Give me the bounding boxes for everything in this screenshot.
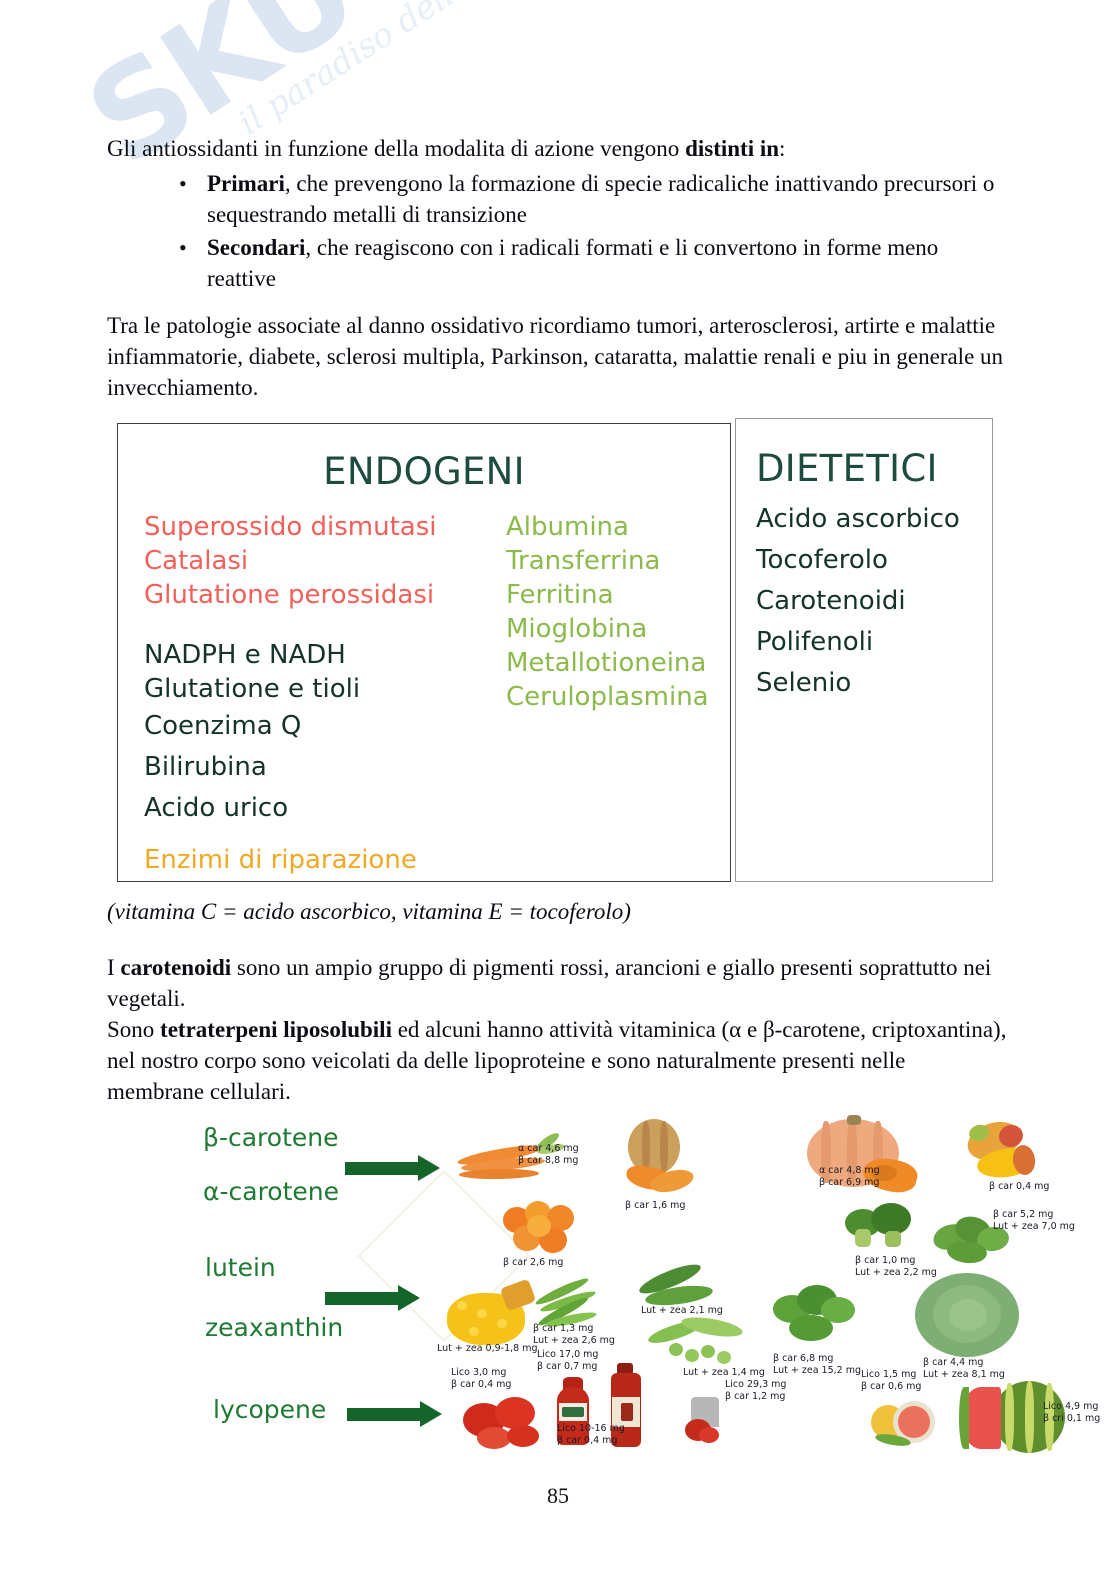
endogeni-subgroup: Coenzima Q Bilirubina Acido urico <box>144 706 436 829</box>
endogeni-column-one: Superossido dismutasi Catalasi Glutation… <box>144 510 436 877</box>
food-label-tomato-sauce: Lico 10-16 mg β car 0,4 mg <box>557 1423 625 1447</box>
endogeni-column-two: Albumina Transferrina Ferritina Mioglobi… <box>506 510 709 714</box>
endogeni-item: Coenzima Q <box>144 706 436 747</box>
endogeni-item: Glutatione e tioli <box>144 672 436 706</box>
figure-label-lycopene: lycopene <box>213 1395 326 1424</box>
food-label-tomatoes: Lico 3,0 mg β car 0,4 mg <box>451 1367 511 1391</box>
bullet-icon: • <box>179 232 187 263</box>
food-label-apricots: β car 2,6 mg <box>503 1257 563 1269</box>
dietetici-title: DIETETICI <box>756 447 938 490</box>
dietetici-item: Selenio <box>756 663 960 704</box>
food-label-broccoli: β car 1,0 mg Lut + zea 2,2 mg <box>855 1255 937 1279</box>
food-label-cantaloupe: β car 1,6 mg <box>625 1200 685 1212</box>
food-label-spinach: β car 5,2 mg Lut + zea 7,0 mg <box>993 1209 1075 1233</box>
endogenous-antioxidants-box: ENDOGENI Superossido dismutasi Catalasi … <box>117 423 731 882</box>
caro-p2-bold: tetraterpeni liposolubili <box>160 1017 392 1042</box>
endogeni-item: Ceruloplasmina <box>506 680 709 714</box>
dietetici-item: Tocoferolo <box>756 540 960 581</box>
food-label-green-beans: β car 1,3 mg Lut + zea 2,6 mg <box>533 1323 615 1347</box>
endogeni-item: Superossido dismutasi <box>144 510 436 544</box>
endogeni-item: Metallotioneina <box>506 646 709 680</box>
carotenoids-paragraph: I carotenoidi sono un ampio gruppo di pi… <box>107 952 1007 1107</box>
food-label-peas: Lut + zea 1,4 mg <box>683 1367 765 1379</box>
caro-p1-bold: carotenoidi <box>120 955 231 980</box>
endogeni-item: Acido urico <box>144 788 436 829</box>
list-item-bold: Secondari <box>207 235 305 260</box>
food-label-tomato-paste: Lico 29,3 mg β car 1,2 mg <box>725 1379 786 1403</box>
food-label-mango: β car 0,4 mg <box>989 1181 1049 1193</box>
endogeni-item: Ferritina <box>506 578 709 612</box>
caro-p1-rest: sono un ampio gruppo di pigmenti rossi, … <box>107 955 991 1011</box>
endogeni-item: Albumina <box>506 510 709 544</box>
arrow-xanthophyll-icon <box>325 1285 420 1311</box>
endogeni-item: Catalasi <box>144 544 436 578</box>
antioxidant-type-list: • Primari, che prevengono la formazione … <box>107 168 997 296</box>
food-label-watermelon: Lico 4,9 mg β cri 0,1 mg <box>1043 1401 1100 1425</box>
page-number: 85 <box>0 1483 1116 1509</box>
list-item-bold: Primari <box>207 171 285 196</box>
list-item-text: , che prevengono la formazione di specie… <box>207 171 994 227</box>
endogeni-title: ENDOGENI <box>118 450 730 493</box>
list-item-text: , che reagiscono con i radicali formati … <box>207 235 938 291</box>
food-label-zucchini: Lut + zea 2,1 mg <box>641 1305 723 1317</box>
caro-p2-lead: Sono <box>107 1017 160 1042</box>
food-label-grapefruit: Lico 1,5 mg β car 0,6 mg <box>861 1369 921 1393</box>
list-item: • Primari, che prevengono la formazione … <box>107 168 997 230</box>
arrow-carotene-icon <box>345 1155 440 1181</box>
food-label-cabbage: β car 4,4 mg Lut + zea 8,1 mg <box>923 1357 1005 1381</box>
intro-paragraph: Gli antiossidanti in funzione della moda… <box>107 133 987 164</box>
endogeni-item: Mioglobina <box>506 612 709 646</box>
endogeni-item: Transferrina <box>506 544 709 578</box>
document-page: Gli antiossidanti in funzione della moda… <box>0 0 1116 1579</box>
figure-label-zeaxanthin: zeaxanthin <box>205 1313 343 1342</box>
intro-text: Gli antiossidanti in funzione della moda… <box>107 136 685 161</box>
pathologies-paragraph: Tra le patologie associate al danno ossi… <box>107 310 1007 403</box>
endogeni-item: NADPH e NADH <box>144 638 436 672</box>
dietetici-item: Carotenoidi <box>756 581 960 622</box>
intro-bold: distinti in <box>685 136 779 161</box>
endogeni-item: Glutatione perossidasi <box>144 578 436 612</box>
carotenoid-sources-figure: β-carotene α-carotene lutein zeaxanthin … <box>185 1105 975 1445</box>
dietetici-item: Acido ascorbico <box>756 499 960 540</box>
figure-label-lutein: lutein <box>205 1253 276 1282</box>
dietetici-item: Polifenoli <box>756 622 960 663</box>
figure-label-beta-carotene: β-carotene <box>203 1123 338 1152</box>
bullet-icon: • <box>179 168 187 199</box>
food-label-kale: β car 6,8 mg Lut + zea 15,2 mg <box>773 1353 861 1377</box>
spacer <box>144 612 436 638</box>
food-label-pumpkin: α car 4,8 mg β car 6,9 mg <box>819 1165 880 1189</box>
food-label-corn: Lut + zea 0,9-1,8 mg <box>437 1343 538 1355</box>
figure-label-alpha-carotene: α-carotene <box>203 1177 339 1206</box>
list-item: • Secondari, che reagiscono con i radica… <box>107 232 997 294</box>
intro-tail: : <box>779 136 785 161</box>
arrow-lycopene-icon <box>347 1401 442 1427</box>
endogeni-item: Bilirubina <box>144 747 436 788</box>
dietary-antioxidants-box: DIETETICI Acido ascorbico Tocoferolo Car… <box>735 418 993 882</box>
food-label-ketchup: Lico 17,0 mg β car 0,7 mg <box>537 1349 598 1373</box>
dietetici-list: Acido ascorbico Tocoferolo Carotenoidi P… <box>756 499 960 704</box>
spacer <box>144 829 436 843</box>
vitamin-equivalence-note: (vitamina C = acido ascorbico, vitamina … <box>107 896 987 927</box>
food-label-carrots: α car 4,6 mg β car 8,8 mg <box>518 1143 579 1167</box>
caro-p1-lead: I <box>107 955 120 980</box>
endogeni-item: Enzimi di riparazione <box>144 843 436 877</box>
